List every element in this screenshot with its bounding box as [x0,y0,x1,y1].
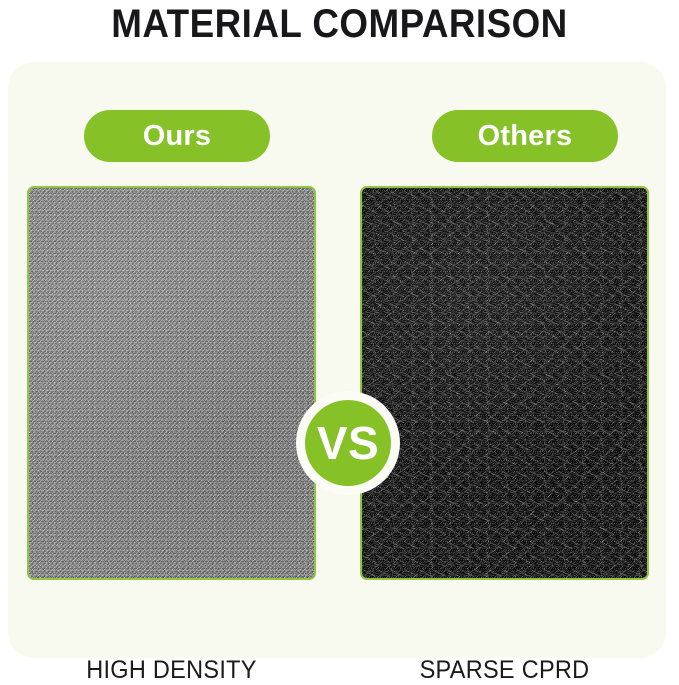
vs-badge: VS [296,391,400,495]
material-swatch-others [360,186,649,580]
caption-ours: HIGH DENSITY [36,656,308,685]
dense-felt-texture [29,188,314,578]
caption-others: SPARSE CPRD [369,656,641,685]
material-swatch-ours [27,186,316,580]
comparison-card: Ours Others VS HIGH DENSITY SPARSE CPRD [8,62,666,658]
sparse-fiber-texture [362,188,647,578]
page-title: MATERIAL COMPARISON [27,2,652,47]
label-pill-ours: Ours [84,110,270,162]
label-pill-others: Others [432,110,618,162]
